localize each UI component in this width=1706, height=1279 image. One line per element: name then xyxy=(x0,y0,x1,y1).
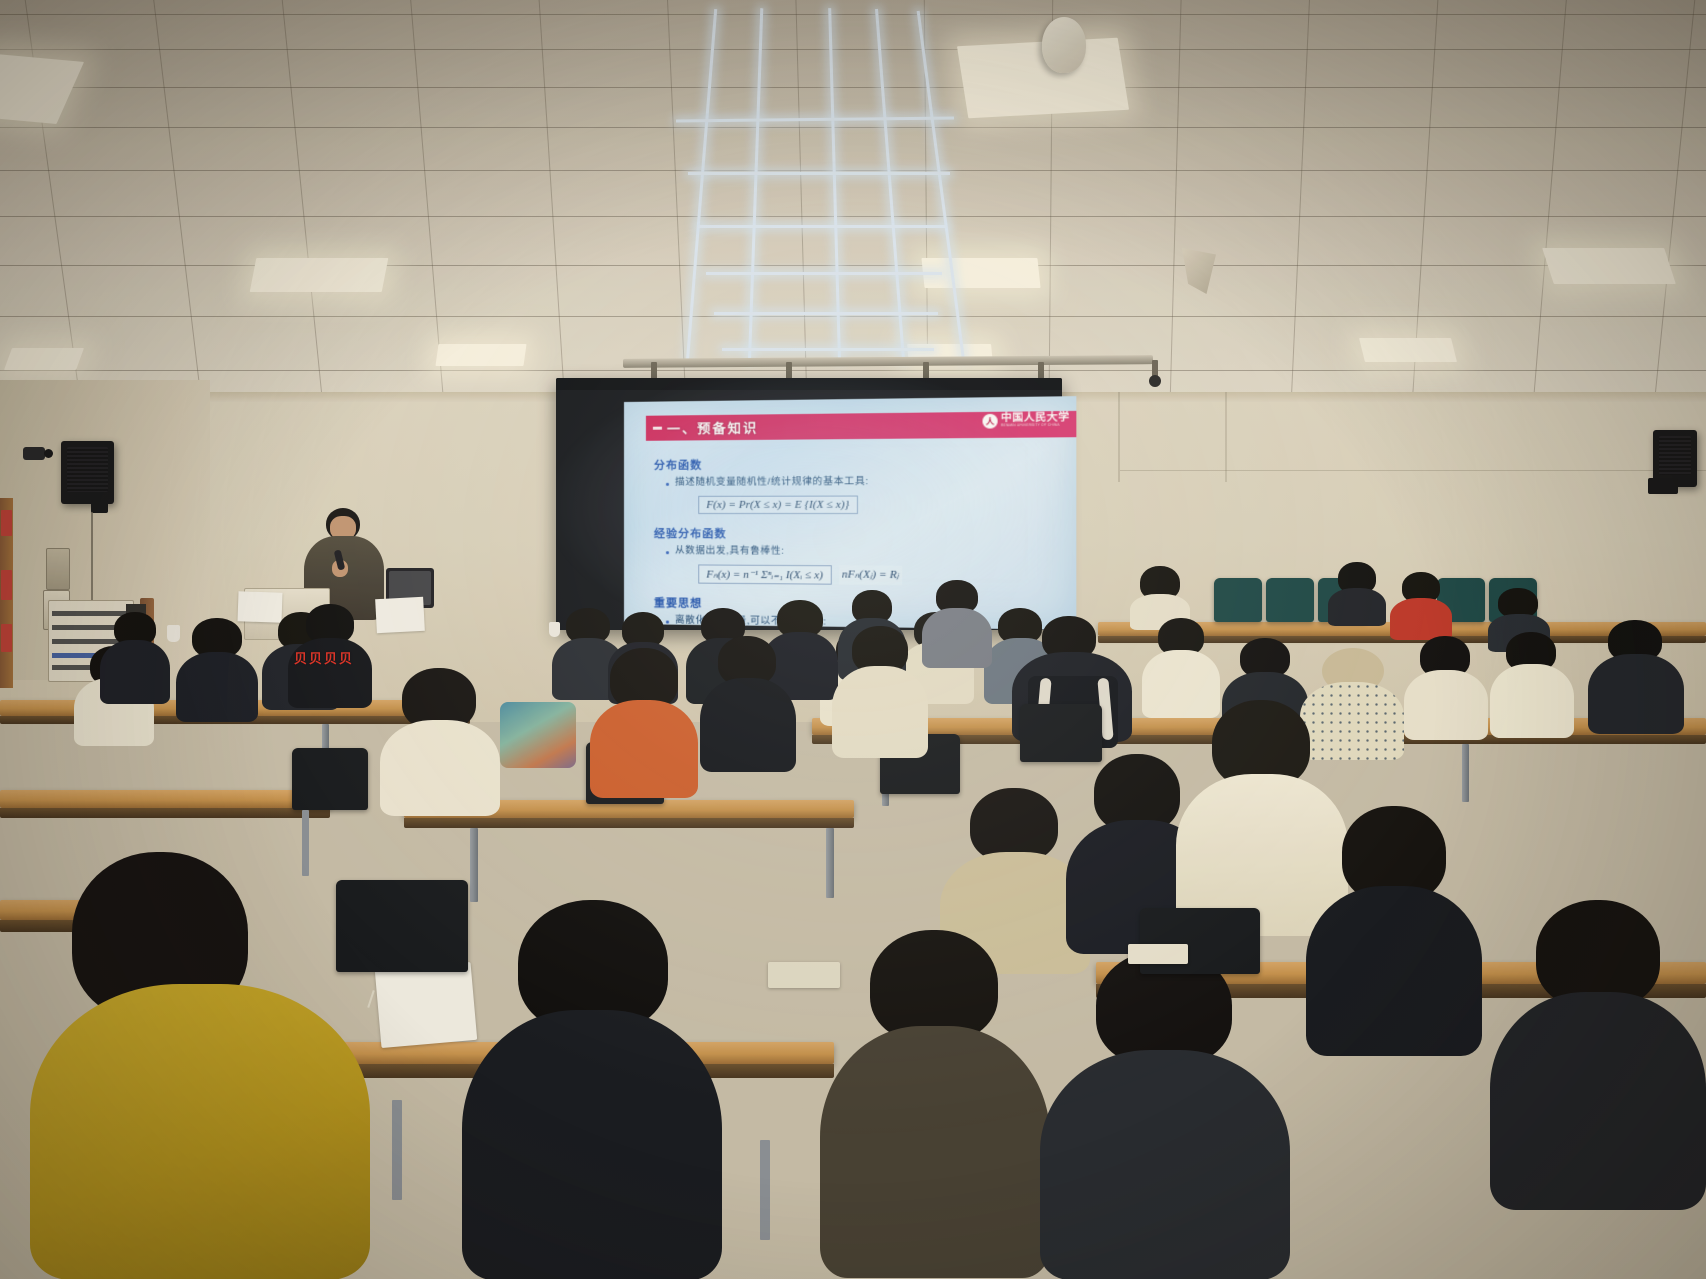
student xyxy=(1490,900,1706,1210)
wall-seam xyxy=(1120,470,1706,471)
notebook xyxy=(1128,944,1188,964)
slide-title-accent xyxy=(653,427,662,430)
student-hair xyxy=(970,788,1058,862)
notebook xyxy=(375,962,477,1048)
student xyxy=(100,612,170,704)
student xyxy=(922,580,992,668)
ceiling-tile-line xyxy=(660,0,690,420)
desk-edge xyxy=(0,808,330,818)
student-coat xyxy=(1490,664,1574,738)
slide-section-heading: 经验分布函数 xyxy=(654,525,1065,542)
wall-seam xyxy=(1118,392,1120,482)
lecture-hall-photo: 一、预备知识 人 中国人民大学 RENMIN UNIVERSITY OF CHI… xyxy=(0,0,1706,1279)
student xyxy=(700,636,796,772)
student xyxy=(176,618,258,722)
bullet-dot-icon xyxy=(666,551,669,554)
ceiling-strip-light xyxy=(706,272,942,275)
shelf-item xyxy=(1,510,12,536)
ceiling-light-panel xyxy=(1542,248,1676,284)
student-coat xyxy=(1328,588,1386,626)
ceiling-tile-line xyxy=(0,370,1706,371)
ceiling-tile-line xyxy=(1288,0,1318,420)
ceiling-strip-light xyxy=(698,225,946,228)
wall-seam xyxy=(1225,392,1227,482)
chair-leg xyxy=(760,1140,770,1240)
desk-leg xyxy=(826,828,834,898)
shelf-item xyxy=(1,624,12,652)
notebook xyxy=(768,962,840,988)
ceiling-tile-line xyxy=(1648,0,1706,420)
desk-edge xyxy=(404,818,854,828)
slide-bullet-text: 描述随机变量随机性/统计规律的基本工具: xyxy=(675,476,869,490)
logo-text-english: RENMIN UNIVERSITY OF CHINA xyxy=(1001,424,1070,428)
student xyxy=(1490,632,1574,738)
student-coat xyxy=(100,640,170,704)
student-coat xyxy=(1490,992,1706,1210)
slide-title: 一、预备知识 xyxy=(667,418,758,438)
desk-leg xyxy=(470,828,478,902)
ceiling xyxy=(0,0,1706,420)
bullet-dot-icon xyxy=(666,483,669,486)
ceiling-tile-line xyxy=(134,0,209,420)
ceiling-light-panel xyxy=(435,344,526,366)
screen-header-rail xyxy=(556,378,1062,390)
ceiling-tile-line xyxy=(265,0,329,420)
classroom-chair[interactable] xyxy=(1140,908,1260,974)
ceiling-tile-line xyxy=(1168,0,1186,420)
student xyxy=(1404,636,1488,740)
ceiling-tile-line xyxy=(0,127,1706,128)
ceiling-tile-line xyxy=(1528,0,1580,420)
empty-chair[interactable] xyxy=(1214,578,1262,622)
empty-chair[interactable] xyxy=(1266,578,1314,622)
paper-cup[interactable] xyxy=(167,625,180,642)
ceiling-light-panel xyxy=(250,258,389,292)
student-coat xyxy=(922,608,992,668)
chair-leg xyxy=(392,1100,402,1200)
wall-camera xyxy=(23,447,45,460)
ceiling-tile-line xyxy=(0,216,1706,217)
slide-bullet: 描述随机变量随机性/统计规律的基本工具: xyxy=(666,475,1065,490)
speaker-bracket xyxy=(1648,478,1678,494)
classroom-chair[interactable] xyxy=(336,880,468,972)
wall-speaker-left xyxy=(61,441,114,504)
student-coat xyxy=(176,652,258,722)
rail-drop xyxy=(1152,360,1158,380)
ceiling-tile-line xyxy=(0,316,1706,317)
jacket-print-text: 贝贝贝贝 xyxy=(294,648,354,667)
slide-formula: nFₙ(Xⱼ) = Rⱼ xyxy=(839,565,902,585)
ceiling-light-panel xyxy=(1359,338,1457,362)
student-coat xyxy=(1390,598,1452,640)
ceiling-strip-light xyxy=(688,172,950,175)
student xyxy=(380,668,500,816)
slide-formula: Fₙ(x) = n⁻¹ Σⁿᵢ₌₁ I(Xᵢ ≤ x) xyxy=(698,564,831,584)
ceiling-light-panel xyxy=(4,348,84,370)
electrical-panel xyxy=(46,548,70,590)
student xyxy=(832,626,928,758)
podium-papers xyxy=(375,597,425,633)
logo-mark-icon: 人 xyxy=(983,414,998,429)
student-coat xyxy=(1040,1050,1290,1279)
slide-bullet-text: 从数据出发,具有鲁棒性: xyxy=(675,545,785,558)
ceiling-tile-line xyxy=(0,87,1706,88)
student-coat xyxy=(1588,654,1684,734)
student xyxy=(820,930,1050,1278)
student-mustard-coat xyxy=(30,852,370,1279)
student xyxy=(1040,950,1290,1279)
ceiling-speaker xyxy=(1042,17,1086,73)
ceiling-tile-line xyxy=(0,14,1706,15)
student-coat xyxy=(380,720,500,816)
slide-formula: F(x) = Pr(X ≤ x) = E {I(X ≤ x)} xyxy=(698,495,857,513)
university-logo: 人 中国人民大学 RENMIN UNIVERSITY OF CHINA xyxy=(983,413,1070,429)
student-coat xyxy=(462,1010,722,1279)
student xyxy=(1588,620,1684,734)
student-coat xyxy=(30,984,370,1279)
classroom-chair[interactable] xyxy=(292,748,368,810)
wall-shelf xyxy=(0,498,13,688)
student-coat xyxy=(1404,670,1488,740)
student-coat xyxy=(820,1026,1050,1278)
slide-bullet: 从数据出发,具有鲁棒性: xyxy=(666,545,1065,560)
shelf-item xyxy=(1,570,12,600)
ceiling-strip-light xyxy=(722,348,934,351)
student-coat xyxy=(832,666,928,758)
ceiling-strip-light xyxy=(714,312,938,315)
student-coat xyxy=(700,678,796,772)
ceiling-tile-line xyxy=(0,49,1706,50)
student-coat xyxy=(1306,886,1482,1056)
student-red-coat xyxy=(1390,572,1452,638)
ceiling-tile-line xyxy=(528,0,569,420)
student xyxy=(1328,562,1386,626)
paper-cup[interactable] xyxy=(549,622,560,637)
desk-row-4 xyxy=(0,790,330,808)
student xyxy=(1306,806,1482,1056)
student xyxy=(462,900,722,1279)
slide-section-heading: 分布函数 xyxy=(654,454,1065,473)
student-coat xyxy=(590,700,698,798)
speaker-bracket xyxy=(91,500,108,513)
slide-formula-row: Fₙ(x) = n⁻¹ Σⁿᵢ₌₁ I(Xᵢ ≤ x) nFₙ(Xⱼ) = Rⱼ xyxy=(698,561,1065,590)
student xyxy=(590,648,698,798)
desk-leg xyxy=(1462,744,1469,802)
tote-bag xyxy=(500,702,576,768)
